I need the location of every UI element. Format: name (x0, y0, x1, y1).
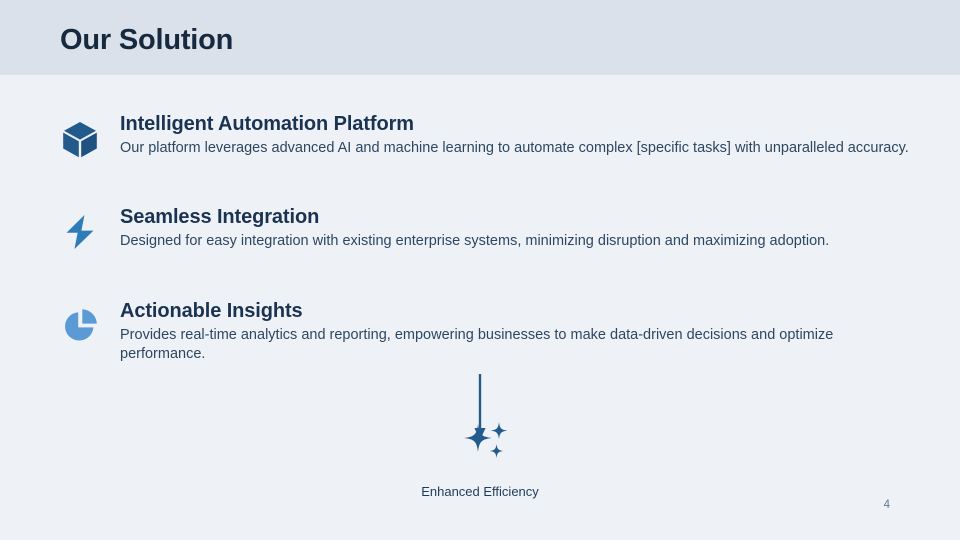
feature-item-actionable-insights: Actionable Insights Provides real-time a… (60, 299, 940, 364)
feature-description: Provides real-time analytics and reporti… (120, 326, 920, 364)
feature-text-block: Intelligent Automation Platform Our plat… (120, 112, 940, 158)
feature-item-intelligent-automation-platform: Intelligent Automation Platform Our plat… (60, 112, 940, 158)
feature-description: Designed for easy integration with exist… (120, 232, 920, 251)
feature-text-block: Actionable Insights Provides real-time a… (120, 299, 940, 364)
pie-chart-icon (60, 306, 100, 346)
feature-title: Intelligent Automation Platform (120, 112, 940, 137)
bottom-visual: Enhanced Efficiency (0, 372, 960, 500)
page-number: 4 (884, 498, 890, 512)
slide: Our Solution Intelligent Automation Plat… (0, 0, 960, 540)
feature-text-block: Seamless Integration Designed for easy i… (120, 205, 940, 251)
feature-description: Our platform leverages advanced AI and m… (120, 139, 920, 158)
visual-caption: Enhanced Efficiency (0, 483, 960, 500)
page-title: Our Solution (60, 23, 233, 57)
sparkles-with-down-arrow-icon (420, 372, 540, 476)
cube-icon (60, 119, 100, 159)
slide-header-band: Our Solution (0, 0, 960, 75)
feature-item-seamless-integration: Seamless Integration Designed for easy i… (60, 205, 940, 251)
feature-title: Actionable Insights (120, 299, 940, 324)
feature-title: Seamless Integration (120, 205, 940, 230)
lightning-bolt-icon (60, 212, 100, 252)
